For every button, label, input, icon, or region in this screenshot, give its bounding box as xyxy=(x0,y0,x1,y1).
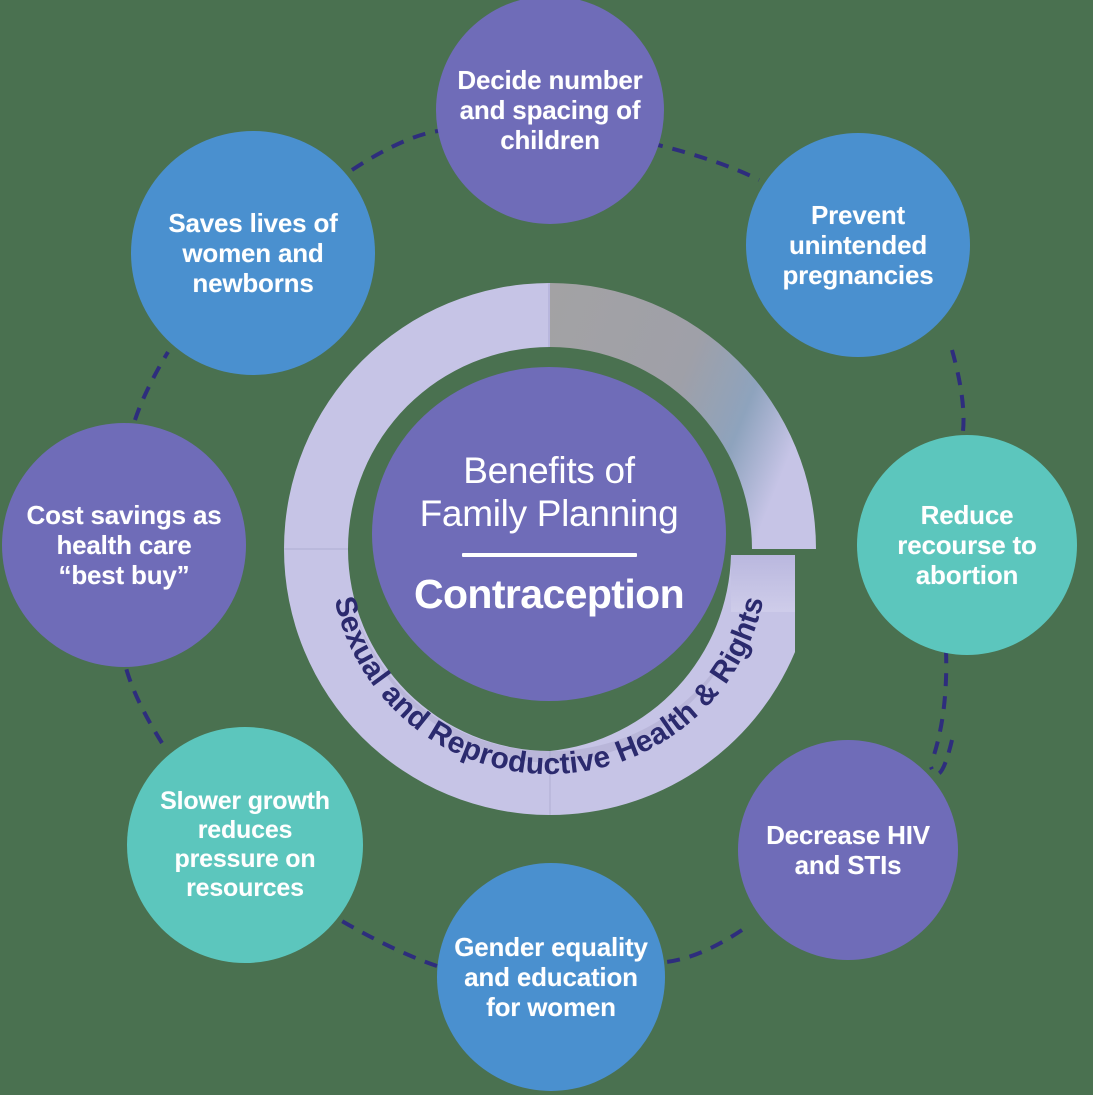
bubble-label: Decrease HIV and STIs xyxy=(766,820,930,880)
bubble-cost-savings-best-buy[interactable]: Cost savings as health care “best buy” xyxy=(2,423,246,667)
bubble-prevent-unintended-pregnancies[interactable]: Prevent unintended pregnancies xyxy=(746,133,970,357)
center-divider xyxy=(462,553,637,557)
bubble-slower-growth-resources[interactable]: Slower growth reduces pressure on resour… xyxy=(127,727,363,963)
bubble-label: Slower growth reduces pressure on resour… xyxy=(160,787,330,903)
center-subtitle: Contraception xyxy=(414,571,684,618)
bubble-label: Prevent unintended pregnancies xyxy=(783,200,934,290)
bubble-gender-equality-education[interactable]: Gender equality and education for women xyxy=(437,863,665,1091)
bubble-label: Saves lives of women and newborns xyxy=(168,208,337,298)
ring-start-face xyxy=(548,283,550,347)
connector-1 xyxy=(352,130,447,170)
connector-2 xyxy=(650,143,759,180)
connector-6 xyxy=(330,914,437,966)
bubble-label: Cost savings as health care “best buy” xyxy=(27,500,222,590)
bubble-decide-number-spacing[interactable]: Decide number and spacing of children xyxy=(436,0,664,224)
center-title: Benefits of Family Planning xyxy=(420,450,679,534)
connector-4b xyxy=(934,650,946,755)
connector-4 xyxy=(931,740,952,774)
infographic-canvas: Sexual and Reproductive Health & Rights … xyxy=(0,0,1093,1095)
bubble-label: Gender equality and education for women xyxy=(454,932,648,1022)
bubble-decrease-hiv-stis[interactable]: Decrease HIV and STIs xyxy=(738,740,958,960)
bubble-saves-lives-women-newborns[interactable]: Saves lives of women and newborns xyxy=(131,131,375,375)
connector-7 xyxy=(126,668,162,743)
connector-8 xyxy=(135,352,168,420)
bubble-reduce-recourse-abortion[interactable]: Reduce recourse to abortion xyxy=(857,435,1077,655)
bubble-label: Reduce recourse to abortion xyxy=(897,500,1036,590)
connector-5 xyxy=(666,930,742,962)
center-node[interactable]: Benefits of Family Planning Contraceptio… xyxy=(372,367,726,701)
bubble-label: Decide number and spacing of children xyxy=(457,65,642,155)
connector-3 xyxy=(952,350,964,431)
